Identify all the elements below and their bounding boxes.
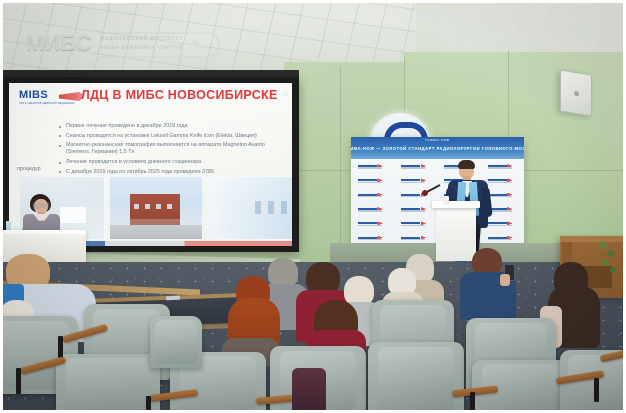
slide-logo-subtitle: СЕТЬ ЦЕНТРОВ ЯДЕРНОЙ МЕДИЦИНЫ [19,102,85,105]
wall-logo-swoosh-icon [98,32,220,58]
moderator-face-blur [33,203,49,208]
audience-hand [500,274,510,286]
wall-logo-dot-icon [192,40,198,46]
slide-title: ЛДЦ В МИБС НОВОСИБИРСКЕ [81,88,286,102]
seat-armrest-post [146,396,151,413]
wall-logo: МИБС МЕДИЦИНСКИЙ ИНСТИТУТ имени БЕРЕЗИНА… [26,28,216,62]
auditorium-seat[interactable] [368,342,464,413]
paper-cup [443,196,449,205]
slide-bullet: Магнитно-резонансная томография выполняе… [57,142,286,156]
banner-header: ГАММА-НОЖ ГАММА-НОЖ — ЗОЛОТОЙ СТАНДАРТ Р… [351,137,524,159]
audience-member-5 [460,248,516,318]
slide-bullet: Первое лечение проведено в декабре 2019 … [57,123,286,130]
potted-plant-icon [596,236,620,282]
slide-bullet: С декабря 2019 года по октябрь 2025 года… [57,169,286,176]
speaker-hair [458,160,475,169]
wall-logo-brand: МИБС [26,30,92,56]
slide-photo-corridor [207,176,292,240]
seat-armrest-post [16,368,21,394]
seat-armrest-post [470,392,475,412]
floor-vent-icon [166,296,180,300]
seat-armrest-post [594,378,599,402]
auditorium-seat[interactable] [150,316,202,368]
wall-speaker-icon [560,69,592,116]
slide-photo-building [109,176,203,240]
slide-bullet: Лечение проводится в условиях дневного с… [57,159,286,166]
auditorium-seat[interactable] [56,354,160,413]
slide-bullet-list: Первое лечение проведено в декабре 2019 … [17,123,286,178]
seat-armrest-post [58,336,63,358]
banner-headline: ГАММА-НОЖ — ЗОЛОТОЙ СТАНДАРТ РАДИОХИРУРГ… [351,146,524,151]
slide-bullet-tail: процедур [17,166,41,172]
draped-coat [292,368,326,413]
conference-photo: МИБС МЕДИЦИНСКИЙ ИНСТИТУТ имени БЕРЕЗИНА… [0,0,626,413]
slide-logo: MIBS СЕТЬ ЦЕНТРОВ ЯДЕРНОЙ МЕДИЦИНЫ [19,89,85,109]
slide-bullet: Сеансы проводятся на установке Leksell G… [57,133,286,140]
banner-supertitle: ГАММА-НОЖ [425,138,449,142]
